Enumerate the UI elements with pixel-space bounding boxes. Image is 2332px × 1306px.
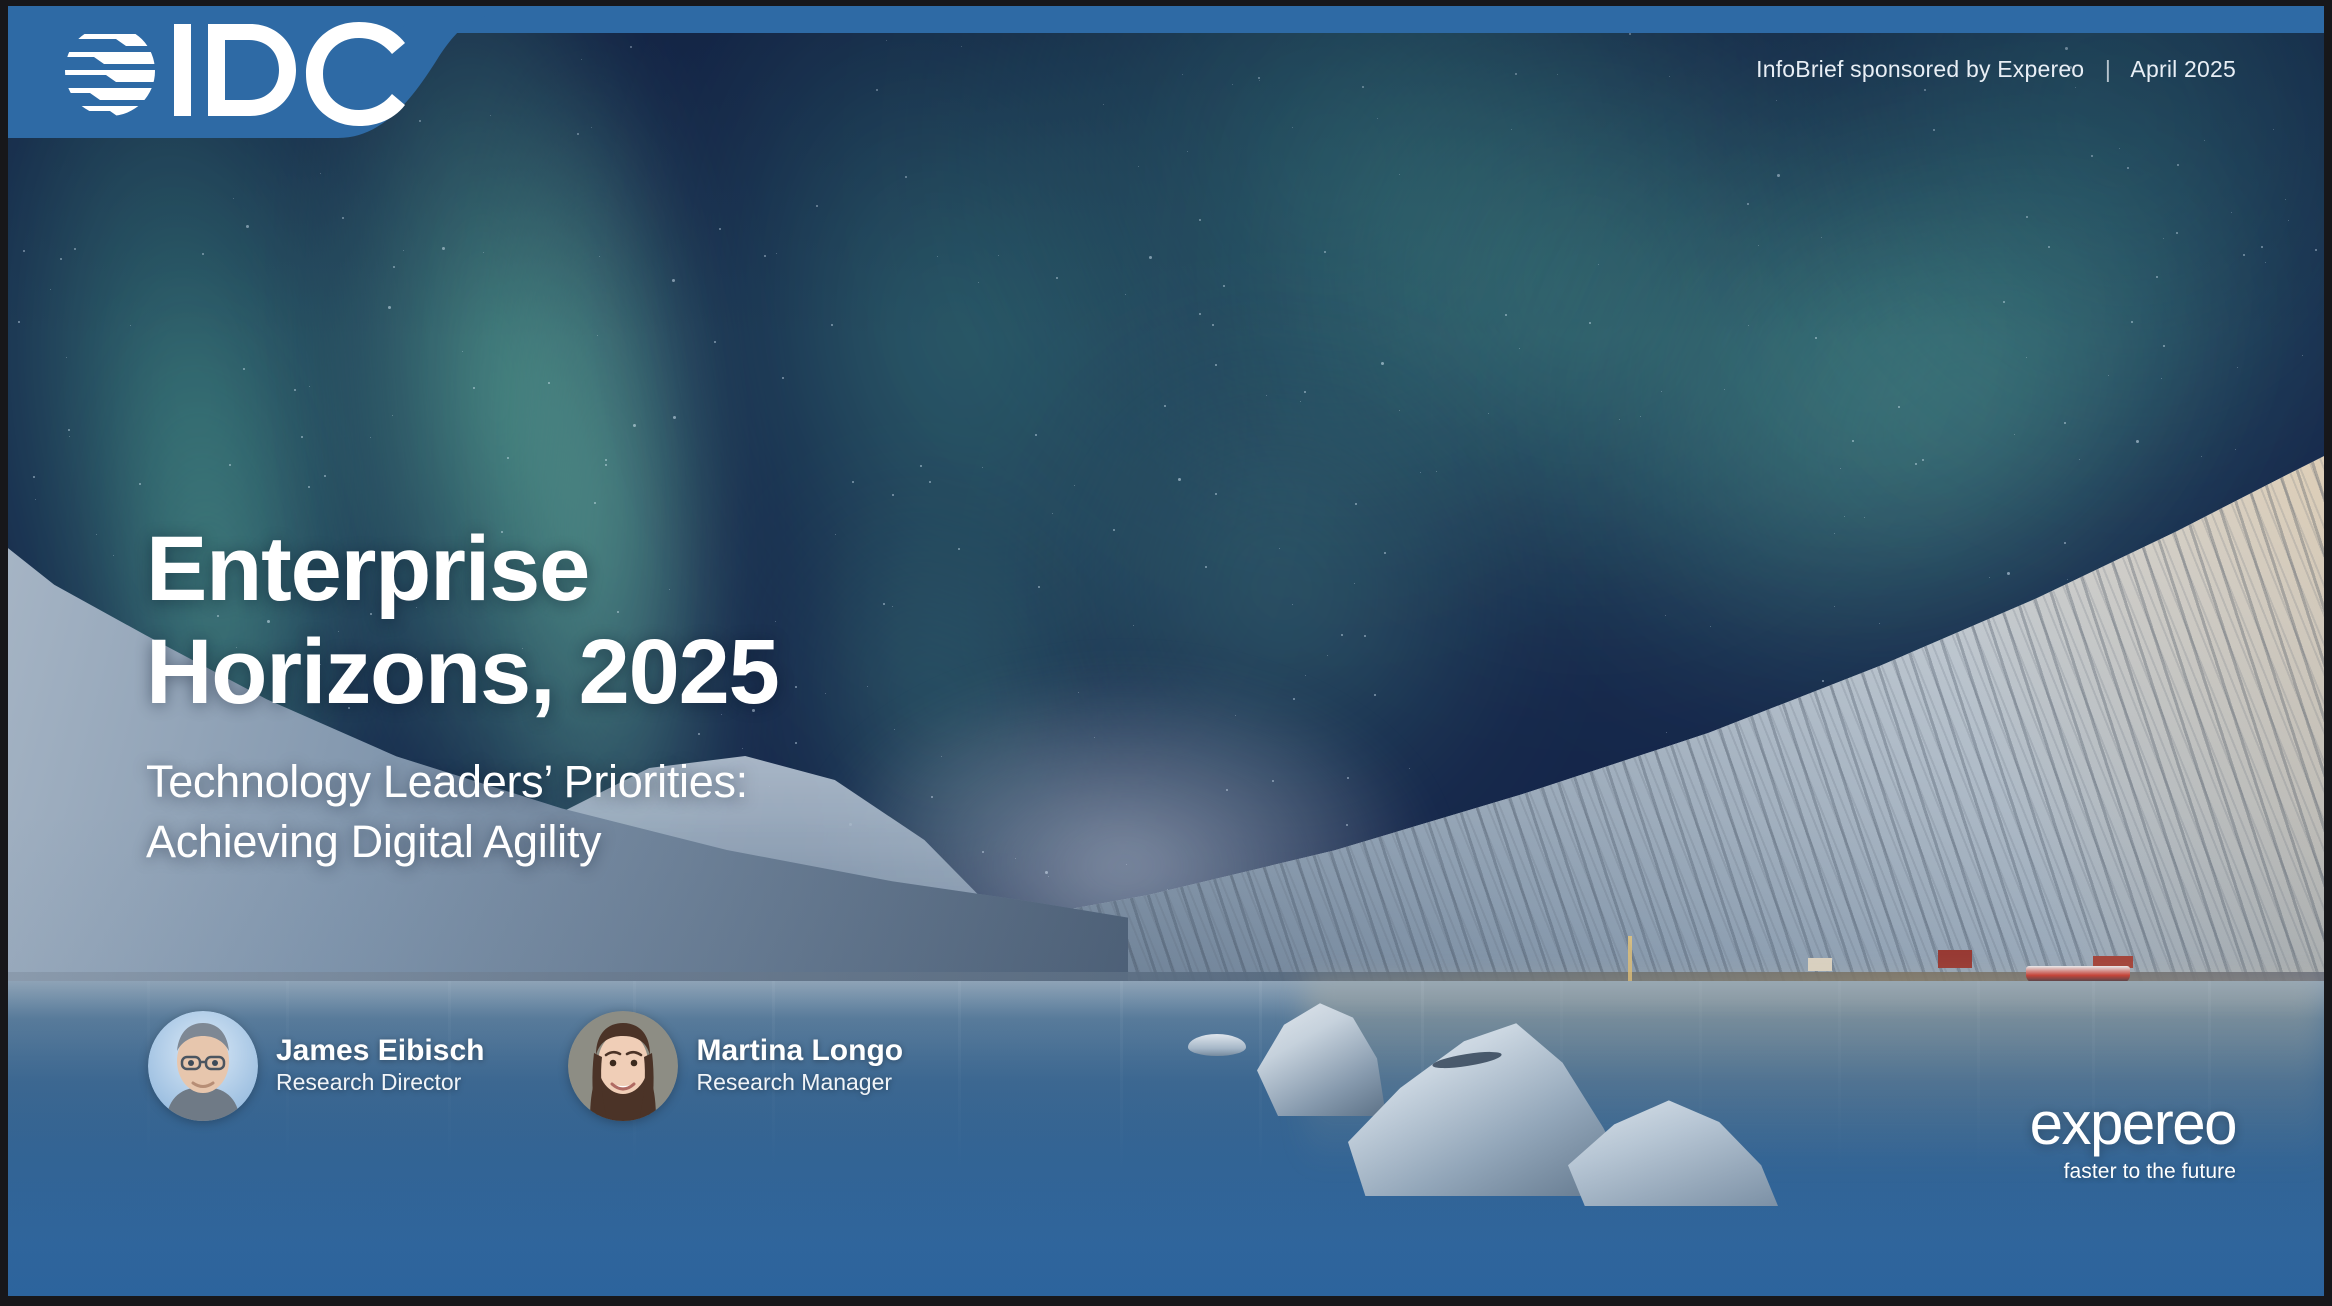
author-role: Research Manager	[696, 1068, 903, 1098]
author-entry: Martina Longo Research Manager	[568, 1011, 903, 1121]
meta-separator: |	[2091, 56, 2125, 82]
slide-frame: InfoBrief sponsored by Expereo | April 2…	[0, 0, 2332, 1306]
publication-date: April 2025	[2130, 56, 2236, 82]
page-title-line-1: Enterprise	[146, 518, 779, 621]
sponsor-line: InfoBrief sponsored by Expereo	[1756, 56, 2084, 82]
author-role: Research Director	[276, 1068, 484, 1098]
header-meta: InfoBrief sponsored by Expereo | April 2…	[1756, 56, 2236, 83]
expereo-tagline: faster to the future	[2030, 1160, 2236, 1184]
avatar-james-eibisch	[148, 1011, 258, 1121]
slide-canvas: InfoBrief sponsored by Expereo | April 2…	[8, 6, 2324, 1296]
shoreline-building	[1808, 958, 1832, 971]
author-name: James Eibisch	[276, 1034, 484, 1068]
author-entry: James Eibisch Research Director	[148, 1011, 484, 1121]
expereo-wordmark: expereo	[2030, 1094, 2236, 1154]
title-block: Enterprise Horizons, 2025 Technology Lea…	[146, 518, 779, 872]
author-name: Martina Longo	[696, 1034, 903, 1068]
rock-small	[1188, 1034, 1246, 1056]
shoreline-hut	[1938, 950, 1972, 968]
page-subtitle-line-1: Technology Leaders’ Priorities:	[146, 752, 779, 812]
author-text: Martina Longo Research Manager	[696, 1034, 903, 1097]
expereo-logo[interactable]: expereo faster to the future	[2030, 1094, 2236, 1184]
page-subtitle-line-2: Achieving Digital Agility	[146, 812, 779, 872]
avatar-martina-longo	[568, 1011, 678, 1121]
author-text: James Eibisch Research Director	[276, 1034, 484, 1097]
author-list: James Eibisch Research Director	[148, 1011, 903, 1121]
idc-logo[interactable]	[8, 6, 528, 138]
page-title-line-2: Horizons, 2025	[146, 621, 779, 724]
